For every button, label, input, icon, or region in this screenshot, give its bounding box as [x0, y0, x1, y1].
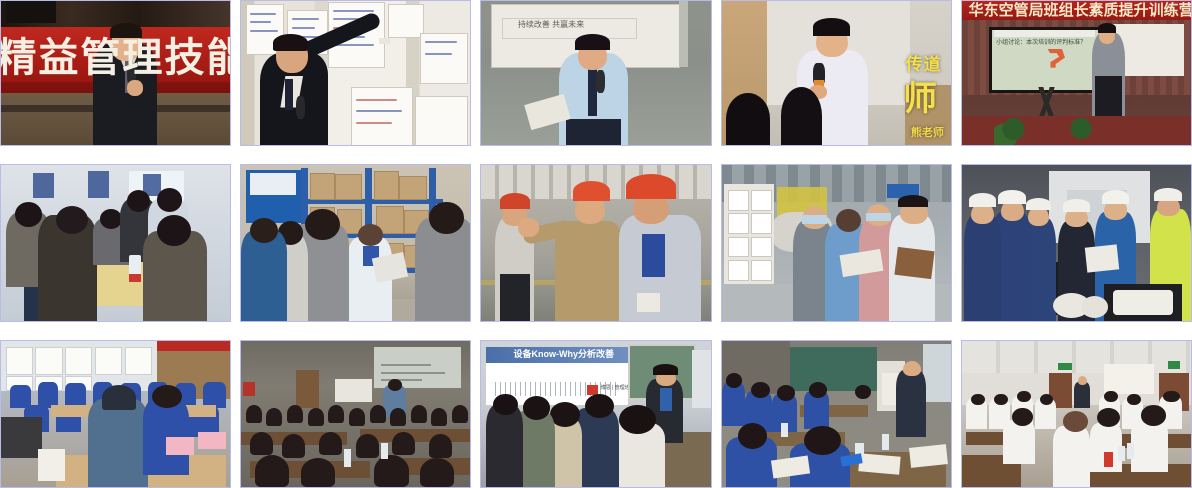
gallery-photo-9[interactable] [721, 164, 952, 322]
potted-plant-left [994, 105, 1033, 145]
window [923, 344, 951, 402]
attendee-head-left [726, 93, 770, 145]
safety-helmet-background [500, 193, 530, 209]
slide-header [994, 30, 1095, 37]
lanyard [642, 234, 665, 278]
photo-gallery-grid: 精益管理技能 [0, 0, 1192, 488]
attendee-1 [486, 405, 523, 487]
gallery-photo-3[interactable]: 持续改善 共赢未来 [480, 0, 711, 146]
presenter-hair [1098, 23, 1116, 33]
presenter [1074, 382, 1090, 408]
sample-bowl-2 [1081, 296, 1109, 318]
photo-scene-stage-banner: 小组讨论：本次培训的评判标准？ 华东空管局班组长素质提升训练营 [962, 1, 1191, 145]
classroom-monitor [1, 417, 42, 458]
name-card-1 [166, 437, 194, 455]
trainer-hair [273, 34, 307, 51]
gallery-photo-7[interactable] [240, 164, 471, 322]
photo-scene-lecture-hall [241, 341, 470, 487]
lecturer-head [388, 379, 402, 391]
face-mask-observer [866, 213, 891, 221]
photo-scene-projector-classroom: 持续改善 共赢未来 [481, 1, 710, 145]
participant-6-head [157, 215, 191, 246]
photo-scene-lecture-with-caption: 传道 师 熊老师 [722, 1, 951, 145]
clipboard-brown [894, 247, 934, 279]
marker-pen [379, 38, 390, 44]
red-banner-strip [157, 341, 230, 351]
instructor-hair [813, 18, 850, 35]
gallery-photo-6[interactable] [0, 164, 231, 322]
attendee-3-head [550, 402, 580, 427]
presenter-face [1078, 376, 1087, 385]
exit-sign-right [1168, 361, 1179, 368]
worker-background-trousers [500, 274, 530, 321]
slide-title-box [502, 18, 637, 39]
trainee-right-head [152, 385, 182, 408]
foreground-trainee-cap [102, 385, 136, 410]
speaker-hair [575, 34, 609, 50]
photo-scene-flipchart-workshop [241, 1, 470, 145]
gallery-photo-10[interactable] [961, 164, 1192, 322]
hard-hat-hi-vis [1154, 188, 1182, 200]
safety-helmet-center [573, 181, 610, 201]
worker-center-hand [518, 218, 539, 237]
gallery-photo-13[interactable]: 设备Know-Why分析改善 博思 | 管理培训 [480, 340, 711, 488]
id-badge [637, 293, 660, 312]
foreground-trainee [88, 399, 148, 487]
gallery-photo-8[interactable] [480, 164, 711, 322]
photo-scene-plant-tour [962, 165, 1191, 321]
gallery-photo-4[interactable]: 传道 师 熊老师 [721, 0, 952, 146]
visitor-1 [964, 215, 1001, 321]
photo-scene-shopfloor-audit [722, 165, 951, 321]
fire-extinguisher [243, 382, 254, 397]
hard-hat-2 [998, 190, 1026, 204]
photo-scene-table-discussion [1, 165, 230, 321]
projector-screen [1104, 364, 1154, 393]
microphone [296, 96, 305, 119]
photo-scene-warehouse-briefing [241, 165, 470, 321]
tissue-box [38, 449, 66, 481]
photo-scene-banner-hall: 精益管理技能 [1, 1, 230, 145]
clipboard [1084, 245, 1119, 273]
potted-plant-right [1063, 108, 1100, 145]
microphone [596, 70, 605, 93]
photo-scene-white-coat-audience [962, 341, 1191, 487]
trainer-face [903, 361, 921, 376]
photo-scene-factory-helmets [481, 165, 710, 321]
exit-sign-left [1058, 363, 1072, 370]
worker-center-head [305, 209, 339, 240]
gallery-photo-1[interactable]: 精益管理技能 [0, 0, 231, 146]
worker-right-head [429, 202, 463, 233]
caption-line-1: 传道 [906, 56, 942, 73]
worker-center [555, 221, 624, 321]
caption-line-2: 师 [903, 82, 937, 116]
participant-2-head [56, 206, 88, 234]
gallery-photo-15[interactable] [961, 340, 1192, 488]
caption-line-3: 熊老师 [911, 128, 944, 139]
gallery-photo-12[interactable] [240, 340, 471, 488]
hall-banner-text: 华东空管局班组长素质提升训练营 [969, 3, 1191, 18]
participant-3-head [100, 209, 123, 229]
door [296, 370, 319, 408]
projector-screen [374, 347, 461, 388]
safety-helmet-foreground [626, 174, 676, 199]
window [692, 350, 710, 408]
participant-5-head [157, 188, 182, 211]
hard-hat-blue [1102, 190, 1130, 204]
trainer [896, 370, 926, 437]
gallery-photo-11[interactable] [0, 340, 231, 488]
photo-scene-blue-uniform-seminar [722, 341, 951, 487]
trainer-lanyard [660, 388, 671, 411]
room-pillar [679, 1, 688, 67]
granule-sample [1113, 290, 1173, 315]
banner-text: 精益管理技能 [1, 38, 230, 78]
whiteboard [335, 379, 372, 402]
attendee-2-head [523, 396, 551, 419]
speaker-hand [127, 80, 143, 96]
speaker-trousers [566, 119, 621, 145]
slide-text: 小组讨论：本次培训的评判标准？ [996, 40, 1086, 46]
wall-monitor [6, 1, 56, 23]
clipboard [372, 252, 409, 283]
gallery-photo-14[interactable] [721, 340, 952, 488]
attendee-head-right [781, 87, 822, 145]
gallery-photo-5[interactable]: 小组讨论：本次培训的评判标准？ 华东空管局班组长素质提升训练营 [961, 0, 1192, 146]
gallery-photo-2[interactable] [240, 0, 471, 146]
bottle-cap [129, 274, 140, 282]
worker-left [241, 231, 287, 321]
wall-sign-panel [250, 173, 296, 195]
attendee-foreground-head [619, 405, 656, 434]
worker-left-head [250, 218, 278, 243]
ceiling-tiles [962, 341, 1191, 373]
slide-title: 设备Know-Why分析改善 [513, 350, 614, 359]
hard-hat-1 [969, 193, 997, 207]
manager-hair [898, 195, 928, 207]
hard-hat-suit [1063, 199, 1091, 211]
name-card-2 [198, 432, 226, 450]
hard-hat-3 [1026, 198, 1051, 210]
trainer-hair [653, 364, 678, 374]
participant-4-head [127, 190, 150, 212]
photo-scene-know-why-slide: 设备Know-Why分析改善 博思 | 管理培训 [481, 341, 710, 487]
photo-scene-uniform-classroom [1, 341, 230, 487]
face-mask-operator [802, 215, 827, 224]
trainer-tie [285, 79, 293, 111]
green-chalkboard [790, 347, 877, 391]
